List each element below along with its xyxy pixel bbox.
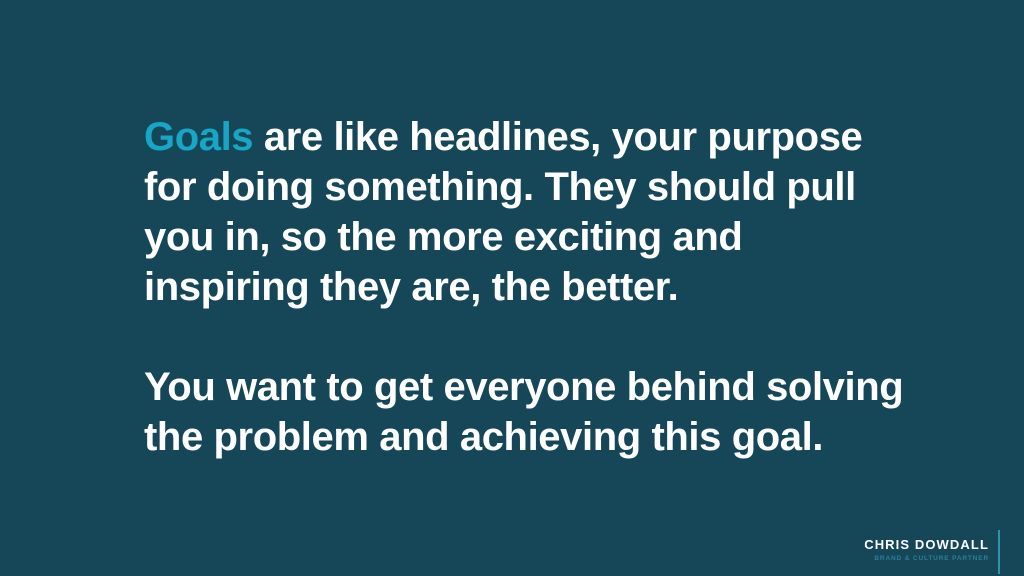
logo-text-block: CHRIS DOWDALL BRAND & CULTURE PARTNER [864, 530, 989, 563]
logo-name: CHRIS DOWDALL [864, 538, 989, 552]
logo-divider-rule [998, 530, 1000, 574]
paragraph-one: Goals are like headlines, your purpose f… [144, 112, 904, 312]
body-copy: Goals are like headlines, your purpose f… [144, 112, 904, 462]
slide-canvas: Goals are like headlines, your purpose f… [0, 0, 1024, 576]
logo-tagline: BRAND & CULTURE PARTNER [874, 555, 989, 563]
brand-logo: CHRIS DOWDALL BRAND & CULTURE PARTNER [864, 530, 1000, 576]
accent-word-goals: Goals [144, 115, 253, 159]
paragraph-two: You want to get everyone behind solving … [144, 362, 904, 462]
